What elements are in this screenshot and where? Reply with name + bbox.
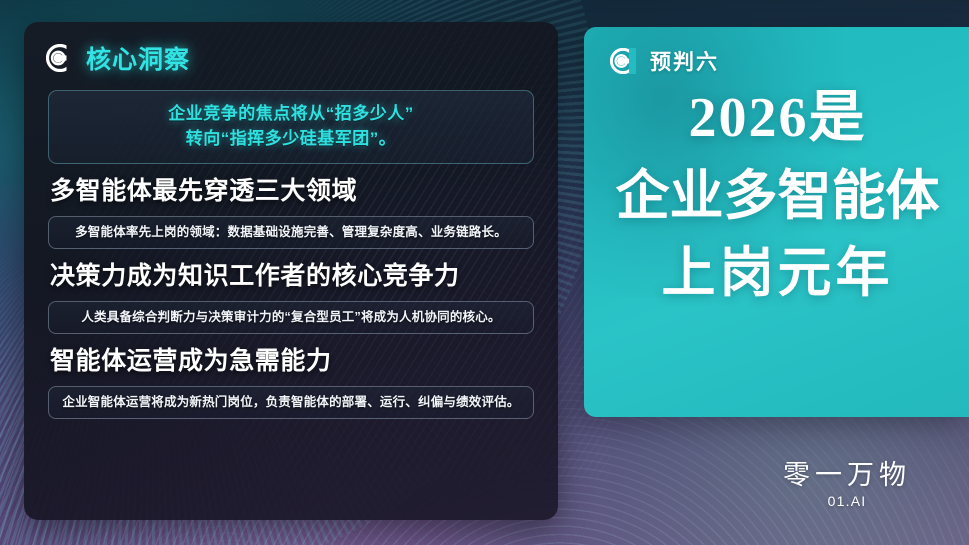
headline-line-2: 企业多智能体 [610, 165, 945, 228]
headline-line-1: 2026是 [610, 86, 945, 151]
insight-section-2: 决策力成为知识工作者的核心竞争力 人类具备综合判断力与决策审计力的“复合型员工”… [48, 249, 534, 334]
insight-section-3-detail-box: 企业智能体运营将成为新热门岗位，负责智能体的部署、运行、纠偏与绩效评估。 [48, 386, 534, 420]
insight-section-3-detail: 企业智能体运营将成为新热门岗位，负责智能体的部署、运行、纠偏与绩效评估。 [61, 394, 521, 412]
insight-section-1-detail-box: 多智能体率先上岗的领域：数据基础设施完善、管理复杂度高、业务链路长。 [48, 216, 534, 250]
insight-section-1-detail: 多智能体率先上岗的领域：数据基础设施完善、管理复杂度高、业务链路长。 [61, 224, 521, 242]
quote-line-2: 转向“指挥多少硅基军团”。 [63, 127, 519, 152]
brand-name-cn: 零一万物 [783, 453, 911, 492]
prediction-headline: 2026是 企业多智能体 上岗元年 [610, 86, 949, 304]
insights-panel: 核心洞察 企业竞争的焦点将从“招多少人” 转向“指挥多少硅基军团”。 多智能体最… [24, 22, 558, 520]
insights-header: 核心洞察 [42, 36, 540, 80]
brand-logo: 零一万物 01.AI [783, 453, 911, 509]
insight-section-1-title: 多智能体最先穿透三大领域 [48, 177, 534, 207]
prediction-header: 预判六 [610, 44, 949, 78]
insight-section-1: 多智能体最先穿透三大领域 多智能体率先上岗的领域：数据基础设施完善、管理复杂度高… [48, 164, 534, 249]
circle-c-logo-icon [46, 44, 74, 72]
insight-section-2-title: 决策力成为知识工作者的核心竞争力 [48, 262, 534, 292]
brand-name-en: 01.AI [783, 493, 911, 509]
slide-canvas: 核心洞察 企业竞争的焦点将从“招多少人” 转向“指挥多少硅基军团”。 多智能体最… [0, 0, 969, 545]
prediction-label: 预判六 [650, 46, 719, 76]
insight-section-3: 智能体运营成为急需能力 企业智能体运营将成为新热门岗位，负责智能体的部署、运行、… [48, 334, 534, 419]
key-quote-box: 企业竞争的焦点将从“招多少人” 转向“指挥多少硅基军团”。 [48, 90, 534, 164]
quote-line-1: 企业竞争的焦点将从“招多少人” [63, 102, 519, 127]
insight-section-2-detail: 人类具备综合判断力与决策审计力的“复合型员工”将成为人机协同的核心。 [61, 309, 521, 327]
insight-section-3-title: 智能体运营成为急需能力 [48, 347, 534, 377]
circle-c-logo-icon [610, 48, 636, 74]
prediction-panel: 预判六 2026是 企业多智能体 上岗元年 [584, 27, 969, 417]
headline-line-3: 上岗元年 [610, 242, 945, 305]
insight-section-2-detail-box: 人类具备综合判断力与决策审计力的“复合型员工”将成为人机协同的核心。 [48, 301, 534, 335]
insights-title: 核心洞察 [86, 40, 190, 76]
